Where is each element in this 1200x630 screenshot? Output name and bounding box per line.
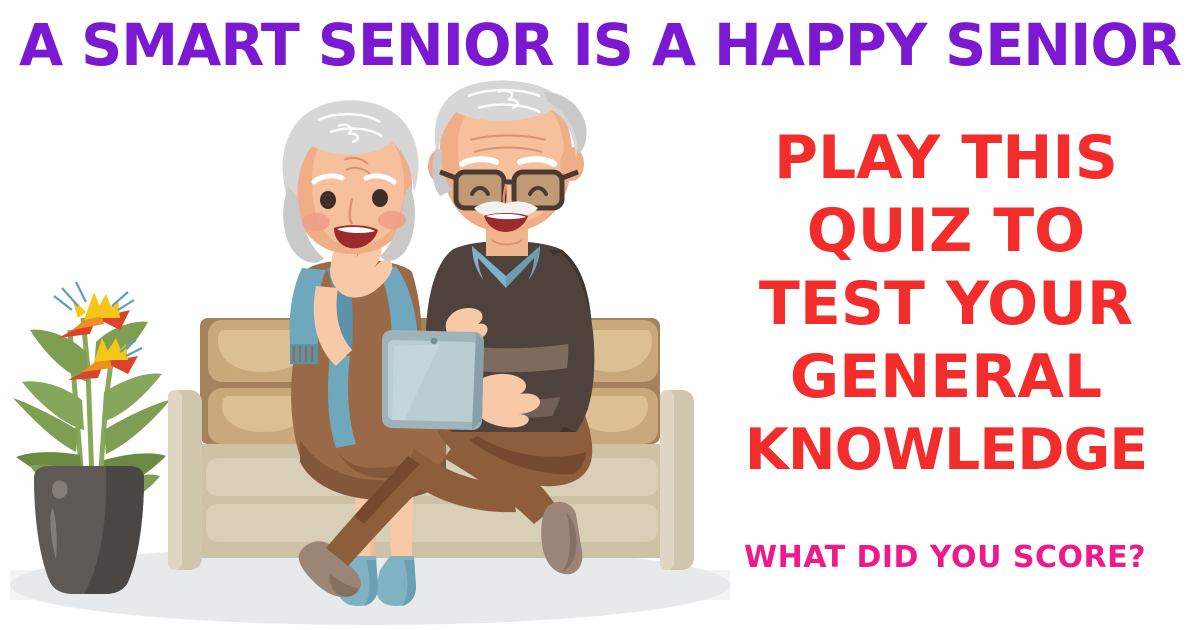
cta-line-4: GENERAL — [700, 341, 1192, 414]
couch-armrest-left-highlight — [168, 390, 182, 570]
woman-cheek — [378, 211, 406, 229]
tablet-device — [382, 330, 484, 430]
score-prompt: WHAT DID YOU SCORE? — [700, 541, 1190, 575]
potted-plant — [13, 282, 170, 594]
couch-seat-cushion — [206, 504, 658, 542]
cta-line-3: TEST YOUR — [700, 268, 1192, 341]
tablet-camera — [431, 338, 438, 345]
couch-armrest-right-highlight — [660, 390, 674, 570]
poster-canvas: A SMART SENIOR IS A HAPPY SENIOR PLAY TH… — [0, 0, 1200, 630]
cta-line-1: PLAY THIS — [700, 122, 1192, 195]
woman-eye — [372, 189, 388, 207]
woman-cheek — [302, 213, 330, 231]
cta-line-2: QUIZ TO — [700, 195, 1192, 268]
call-to-action-text: PLAY THIS QUIZ TO TEST YOUR GENERAL KNOW… — [700, 122, 1192, 487]
page-title: A SMART SENIOR IS A HAPPY SENIOR — [9, 14, 1191, 76]
woman-eye — [320, 191, 336, 209]
cta-line-5: KNOWLEDGE — [700, 414, 1192, 487]
plant-stem — [83, 318, 92, 480]
